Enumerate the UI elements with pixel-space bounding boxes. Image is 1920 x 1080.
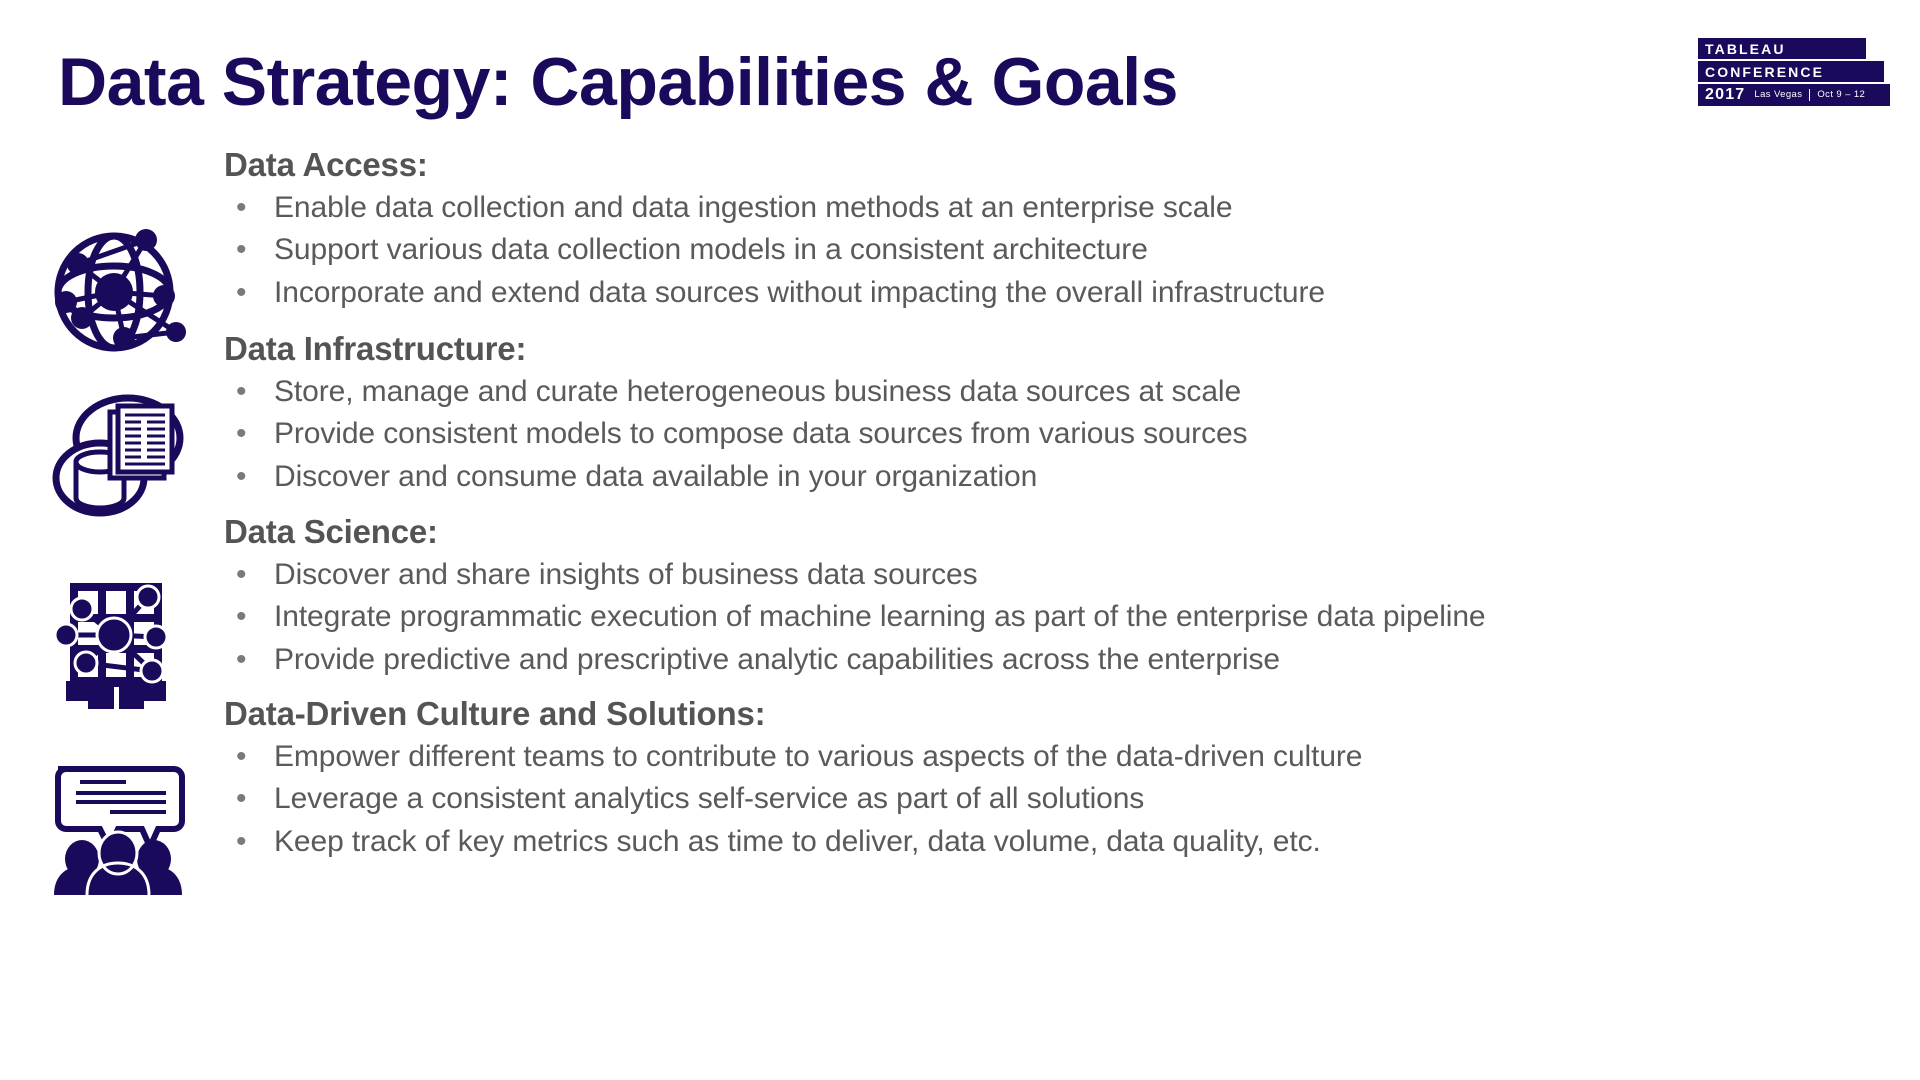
list-item: •Provide predictive and prescriptive ana… (224, 639, 1904, 681)
list-item-text: Provide consistent models to compose dat… (274, 417, 1247, 450)
list-item: •Empower different teams to contribute t… (224, 736, 1904, 778)
bullet-glyph: • (236, 821, 246, 863)
list-item-text: Keep track of key metrics such as time t… (274, 825, 1321, 858)
logo-dates: Oct 9 – 12 (1817, 89, 1865, 100)
bullet-list: •Discover and share insights of business… (224, 554, 1904, 681)
bullet-glyph: • (236, 272, 246, 314)
building-network-icon (48, 575, 188, 715)
bullet-list: •Empower different teams to contribute t… (224, 736, 1904, 863)
bullet-glyph: • (236, 736, 246, 778)
list-item: •Keep track of key metrics such as time … (224, 821, 1904, 863)
list-item: •Enable data collection and data ingesti… (224, 187, 1904, 229)
logo-meta: Las Vegas Oct 9 – 12 (1754, 89, 1865, 102)
list-item: •Integrate programmatic execution of mac… (224, 596, 1904, 638)
tableau-conference-logo: TABLEAU CONFERENCE 2017 Las Vegas Oct 9 … (1698, 38, 1890, 106)
list-item-text: Support various data collection models i… (274, 233, 1148, 266)
list-item-text: Enable data collection and data ingestio… (274, 191, 1232, 224)
list-item-text: Discover and consume data available in y… (274, 460, 1037, 493)
list-item: •Store, manage and curate heterogeneous … (224, 371, 1904, 413)
bullet-list: •Enable data collection and data ingesti… (224, 187, 1904, 314)
bullet-glyph: • (236, 413, 246, 455)
list-item: •Incorporate and extend data sources wit… (224, 272, 1904, 314)
list-item: •Discover and consume data available in … (224, 456, 1904, 498)
database-document-icon (48, 390, 188, 530)
list-item: •Leverage a consistent analytics self-se… (224, 778, 1904, 820)
section-heading: Data Science: (224, 515, 1904, 548)
bullet-glyph: • (236, 371, 246, 413)
list-item-text: Discover and share insights of business … (274, 558, 978, 591)
list-item-text: Empower different teams to contribute to… (274, 740, 1362, 773)
bullet-glyph: • (236, 554, 246, 596)
bullet-glyph: • (236, 778, 246, 820)
speech-bubble-people-icon (48, 755, 188, 895)
list-item: •Provide consistent models to compose da… (224, 413, 1904, 455)
bullet-list: •Store, manage and curate heterogeneous … (224, 371, 1904, 498)
list-item-text: Integrate programmatic execution of mach… (274, 600, 1486, 633)
list-item-text: Provide predictive and prescriptive anal… (274, 643, 1280, 676)
list-item-text: Incorporate and extend data sources with… (274, 276, 1325, 309)
list-item: •Support various data collection models … (224, 229, 1904, 271)
bullet-glyph: • (236, 187, 246, 229)
section-heading: Data Infrastructure: (224, 332, 1904, 365)
bullet-glyph: • (236, 639, 246, 681)
logo-year: 2017 (1705, 86, 1745, 104)
section-body: Data Infrastructure: •Store, manage and … (224, 332, 1904, 498)
section-body: Data Science: •Discover and share insigh… (224, 515, 1904, 681)
logo-divider (1809, 89, 1810, 101)
list-item-text: Leverage a consistent analytics self-ser… (274, 782, 1144, 815)
section-body: Data-Driven Culture and Solutions: •Empo… (224, 697, 1904, 863)
page-title: Data Strategy: Capabilities & Goals (58, 48, 1178, 116)
globe-network-icon (48, 220, 188, 360)
section-heading: Data Access: (224, 148, 1904, 181)
bullet-glyph: • (236, 456, 246, 498)
bullet-glyph: • (236, 596, 246, 638)
logo-line-conference: CONFERENCE (1698, 61, 1884, 82)
section-heading: Data-Driven Culture and Solutions: (224, 697, 1904, 730)
list-item: •Discover and share insights of business… (224, 554, 1904, 596)
logo-line-year-meta: 2017 Las Vegas Oct 9 – 12 (1698, 84, 1890, 106)
logo-location: Las Vegas (1754, 89, 1802, 100)
bullet-glyph: • (236, 229, 246, 271)
logo-line-tableau: TABLEAU (1698, 38, 1866, 59)
list-item-text: Store, manage and curate heterogeneous b… (274, 375, 1241, 408)
section-body: Data Access: •Enable data collection and… (224, 148, 1904, 314)
